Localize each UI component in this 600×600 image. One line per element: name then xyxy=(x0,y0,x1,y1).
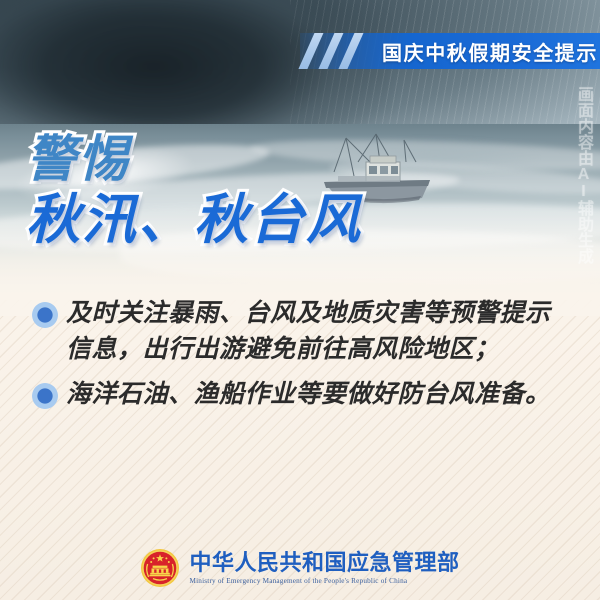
headline-line-1: 警惕 xyxy=(26,134,362,184)
safety-poster: 国庆中秋假期安全提示 警惕 秋汛、秋台风 及时关注暴雨、台风及地质灾害等预警提示… xyxy=(0,0,600,600)
bullet-dot-icon xyxy=(32,383,58,409)
footer: 中华人民共和国应急管理部 Ministry of Emergency Manag… xyxy=(0,548,600,588)
list-item-text: 及时关注暴雨、台风及地质灾害等预警提示信息，出行出游避免前往高风险地区； xyxy=(66,296,572,367)
list-item-text: 海洋石油、渔船作业等要做好防台风准备。 xyxy=(66,377,572,413)
topic-ribbon: 国庆中秋假期安全提示 xyxy=(300,33,600,69)
diagonal-slashes-icon xyxy=(292,33,380,69)
ribbon-title: 国庆中秋假期安全提示 xyxy=(382,37,598,66)
national-emblem-icon xyxy=(140,548,180,588)
ai-watermark: 画面内容由AI辅助生成 xyxy=(566,86,592,264)
bullet-dot-icon xyxy=(32,302,58,328)
ministry-name-block: 中华人民共和国应急管理部 Ministry of Emergency Manag… xyxy=(189,551,459,585)
headline: 警惕 秋汛、秋台风 xyxy=(26,134,362,247)
advice-list: 及时关注暴雨、台风及地质灾害等预警提示信息，出行出游避免前往高风险地区； 海洋石… xyxy=(32,296,572,423)
headline-line-2: 秋汛、秋台风 xyxy=(26,193,362,247)
ministry-name-en: Ministry of Emergency Management of the … xyxy=(189,577,459,585)
list-item: 海洋石油、渔船作业等要做好防台风准备。 xyxy=(32,377,572,413)
list-item: 及时关注暴雨、台风及地质灾害等预警提示信息，出行出游避免前往高风险地区； xyxy=(32,296,572,367)
ministry-name-cn: 中华人民共和国应急管理部 xyxy=(189,551,459,574)
